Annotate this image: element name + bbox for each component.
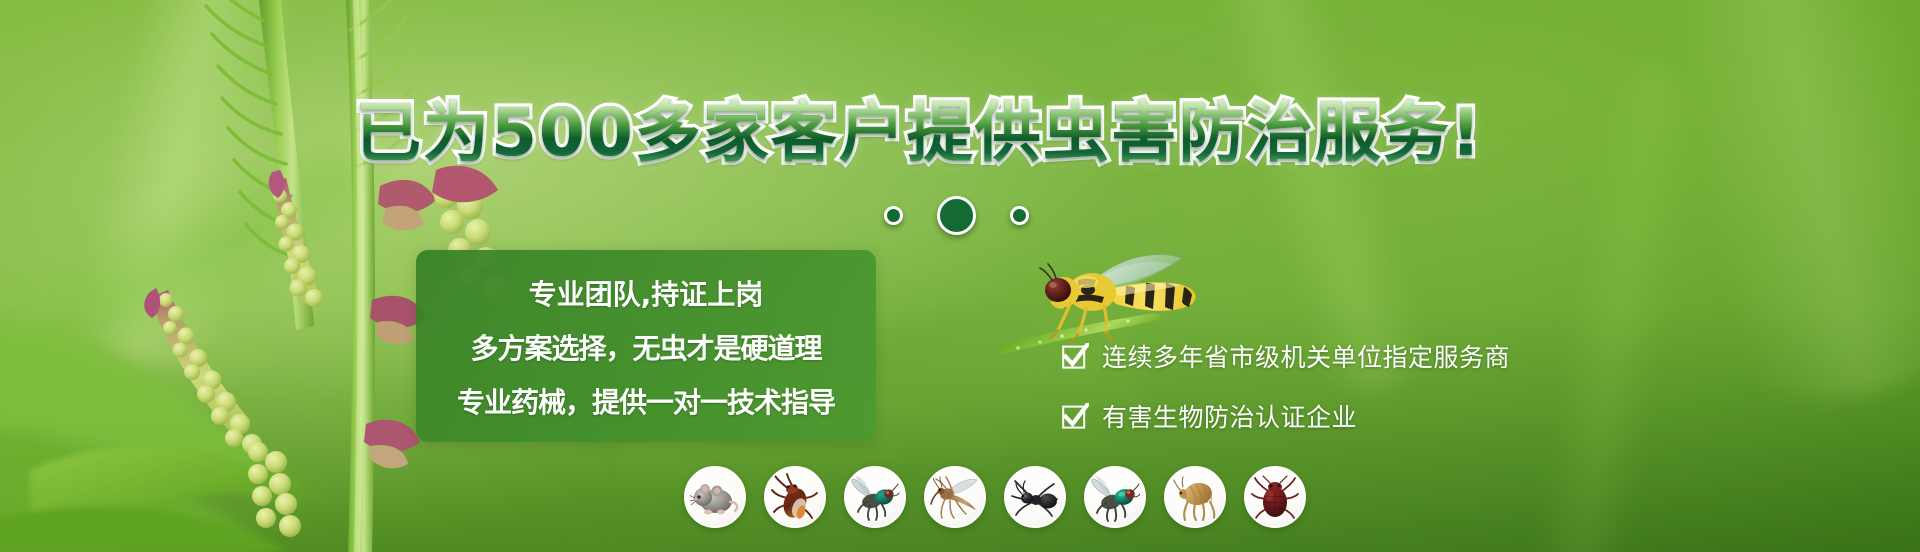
blowfly-icon[interactable]: [1084, 466, 1146, 528]
feature-panel-line-2: 多方案选择，无虫才是硬道理: [438, 327, 854, 367]
page-title: 已为500多家客户提供虫害防治服务!: [355, 96, 1585, 170]
checkbox-checked-icon: [1062, 403, 1089, 430]
checkbox-checked-icon: [1062, 343, 1089, 370]
promo-banner: 已为500多家客户提供虫害防治服务! 已为500多家客户提供虫害防治服务! 专业…: [0, 0, 1920, 552]
bedbug-icon[interactable]: [1244, 466, 1306, 528]
pest-icon-row: [684, 466, 1306, 528]
feature-panel: 专业团队,持证上岗 多方案选择，无虫才是硬道理 专业药械，提供一对一技术指导: [416, 250, 876, 442]
dot-large-center: [937, 196, 976, 235]
ant-icon[interactable]: [1004, 466, 1066, 528]
checklist-item: 有害生物防治认证企业: [1062, 398, 1510, 434]
checklist-item-label: 连续多年省市级机关单位指定服务商: [1102, 338, 1510, 374]
checklist-item-label: 有害生物防治认证企业: [1102, 398, 1357, 434]
mouse-icon[interactable]: [684, 466, 746, 528]
dot-small-right: [1010, 206, 1029, 225]
fly-icon[interactable]: [844, 466, 906, 528]
checklist: 连续多年省市级机关单位指定服务商 有害生物防治认证企业: [1062, 338, 1510, 434]
flea-icon[interactable]: [1164, 466, 1226, 528]
checklist-item: 连续多年省市级机关单位指定服务商: [1062, 338, 1510, 374]
dot-small-left: [884, 206, 903, 225]
cockroach-icon[interactable]: [764, 466, 826, 528]
feature-panel-line-1: 专业团队,持证上岗: [438, 273, 854, 313]
mosquito-icon[interactable]: [924, 466, 986, 528]
feature-panel-line-3: 专业药械，提供一对一技术指导: [438, 381, 854, 421]
